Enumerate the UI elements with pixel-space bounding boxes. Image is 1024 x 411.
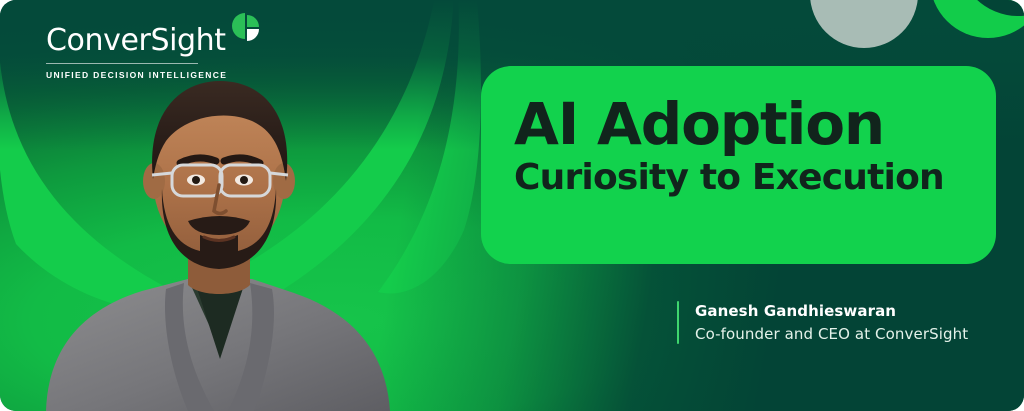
logo-wordmark: ConverSight <box>46 26 226 56</box>
title-card: AI Adoption Curiosity to Execution <box>481 66 996 264</box>
title-card-inner: AI Adoption Curiosity to Execution <box>514 96 996 197</box>
logo-tagline: UNIFIED DECISION INTELLIGENCE <box>46 70 198 80</box>
promo-banner: ConverSight UNIFIED DECISION INTELLIGENC… <box>0 0 1024 411</box>
headline: AI Adoption <box>514 96 996 153</box>
subheadline: Curiosity to Execution <box>514 159 996 197</box>
speaker-role: Co-founder and CEO at ConverSight <box>695 324 968 344</box>
speaker-accent-bar <box>677 301 679 344</box>
conversight-circle-mark-icon <box>229 10 263 44</box>
conversight-logo[interactable]: ConverSight UNIFIED DECISION INTELLIGENC… <box>46 26 246 80</box>
speaker-text: Ganesh Gandhieswaran Co-founder and CEO … <box>695 301 968 344</box>
speaker-name: Ganesh Gandhieswaran <box>695 302 968 321</box>
logo-divider <box>46 63 198 64</box>
speaker-credit: Ganesh Gandhieswaran Co-founder and CEO … <box>677 301 968 344</box>
logo-row: ConverSight <box>46 26 246 56</box>
speaker-photo <box>38 39 398 411</box>
